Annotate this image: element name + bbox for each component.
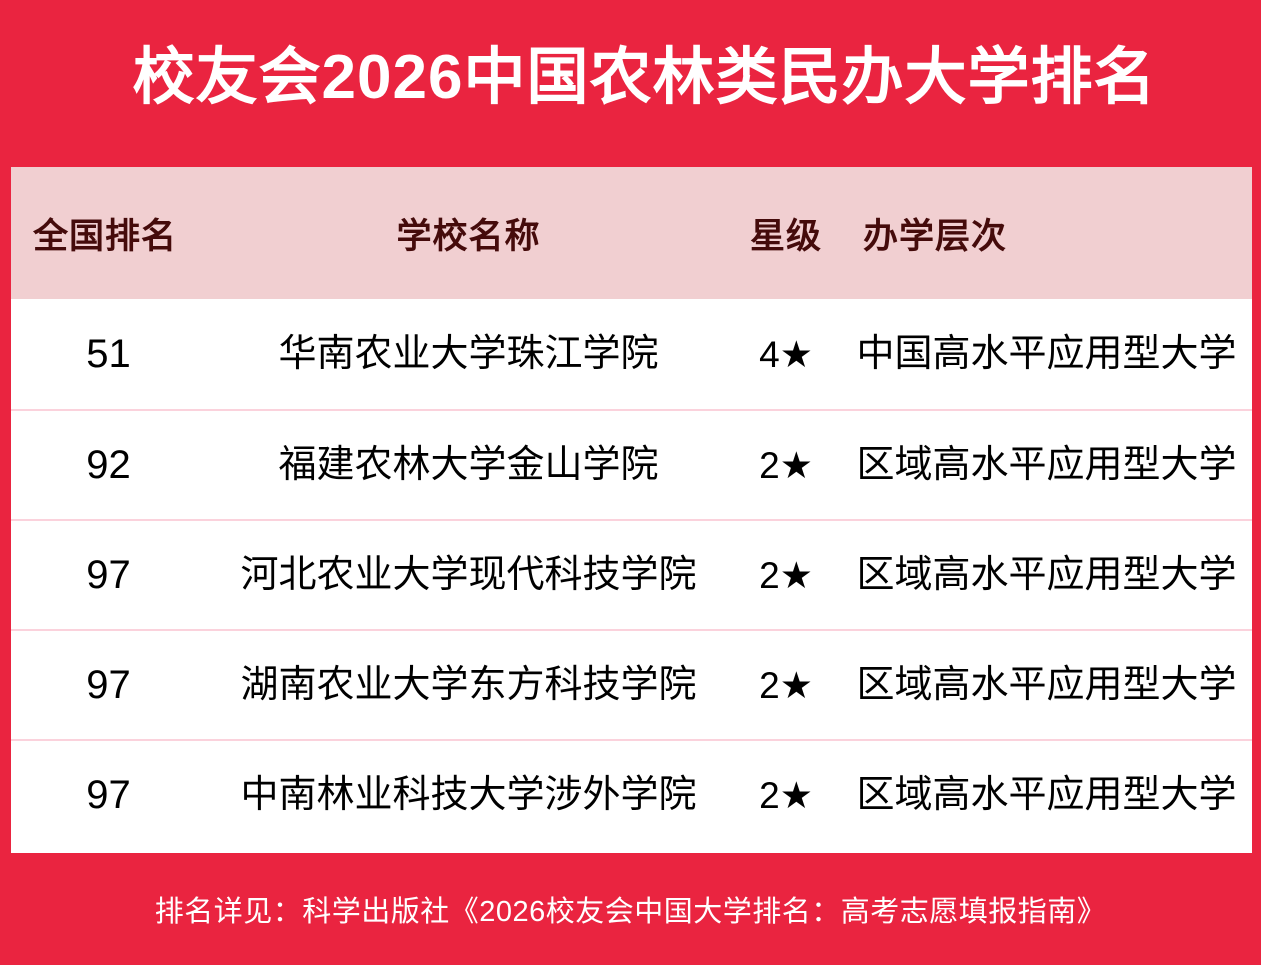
cell-rank: 97 — [11, 555, 206, 595]
school-name-value: 福建农林大学金山学院 — [278, 444, 658, 486]
cell-school-name: 河北农业大学现代科技学院 — [206, 556, 731, 594]
ranking-poster: 校友会2026中国农林类民办大学排名 全国排名 学校名称 星级 办学层次 51 … — [0, 0, 1261, 965]
cell-level: 区域高水平应用型大学 — [841, 446, 1252, 484]
rank-value: 92 — [86, 443, 131, 487]
table-row: 51 华南农业大学珠江学院 4★ 中国高水平应用型大学 — [11, 299, 1252, 409]
table-row: 97 中南林业科技大学涉外学院 2★ 区域高水平应用型大学 — [11, 739, 1252, 849]
table-row: 97 河北农业大学现代科技学院 2★ 区域高水平应用型大学 — [11, 519, 1252, 629]
cell-star-rating: 2★ — [731, 557, 841, 594]
cell-star-rating: 2★ — [731, 447, 841, 484]
school-name-value: 华南农业大学珠江学院 — [278, 333, 658, 375]
rank-value: 97 — [86, 773, 131, 817]
footer-note: 排名详见：科学出版社《2026校友会中国大学排名：高考志愿填报指南》 — [155, 888, 1107, 930]
school-name-value: 河北农业大学现代科技学院 — [240, 554, 696, 596]
level-value: 区域高水平应用型大学 — [856, 774, 1236, 816]
footer-band: 排名详见：科学出版社《2026校友会中国大学排名：高考志愿填报指南》 — [0, 853, 1261, 965]
cell-level: 中国高水平应用型大学 — [841, 335, 1252, 373]
cell-level: 区域高水平应用型大学 — [841, 776, 1252, 814]
table-header-row: 全国排名 学校名称 星级 办学层次 — [11, 167, 1252, 299]
table-row: 92 福建农林大学金山学院 2★ 区域高水平应用型大学 — [11, 409, 1252, 519]
cell-rank: 51 — [11, 334, 206, 374]
star-rating-value: 2★ — [759, 555, 813, 596]
level-value: 区域高水平应用型大学 — [856, 664, 1236, 706]
rank-value: 97 — [86, 663, 131, 707]
cell-level: 区域高水平应用型大学 — [841, 556, 1252, 594]
star-rating-value: 2★ — [759, 665, 813, 706]
school-name-value: 湖南农业大学东方科技学院 — [240, 664, 696, 706]
rank-value: 51 — [86, 332, 131, 376]
level-value: 区域高水平应用型大学 — [856, 554, 1236, 596]
star-rating-value: 4★ — [759, 334, 813, 375]
cell-rank: 97 — [11, 665, 206, 705]
cell-rank: 92 — [11, 445, 206, 485]
star-rating-value: 2★ — [759, 775, 813, 816]
title-band: 校友会2026中国农林类民办大学排名 — [0, 0, 1261, 155]
cell-school-name: 中南林业科技大学涉外学院 — [206, 776, 731, 814]
cell-rank: 97 — [11, 775, 206, 815]
page-title: 校友会2026中国农林类民办大学排名 — [133, 47, 1157, 109]
star-rating-value: 2★ — [759, 445, 813, 486]
cell-level: 区域高水平应用型大学 — [841, 666, 1252, 704]
rank-value: 97 — [86, 553, 131, 597]
column-header-school-name: 学校名称 — [206, 208, 731, 259]
cell-school-name: 湖南农业大学东方科技学院 — [206, 666, 731, 704]
cell-school-name: 福建农林大学金山学院 — [206, 446, 731, 484]
column-header-star-rating: 星级 — [731, 208, 841, 259]
cell-star-rating: 2★ — [731, 777, 841, 814]
cell-star-rating: 4★ — [731, 336, 841, 373]
level-value: 区域高水平应用型大学 — [856, 444, 1236, 486]
table-row: 97 湖南农业大学东方科技学院 2★ 区域高水平应用型大学 — [11, 629, 1252, 739]
school-name-value: 中南林业科技大学涉外学院 — [240, 774, 696, 816]
column-header-rank: 全国排名 — [11, 208, 206, 259]
cell-school-name: 华南农业大学珠江学院 — [206, 335, 731, 373]
ranking-table: 全国排名 学校名称 星级 办学层次 51 华南农业大学珠江学院 4★ 中国高水平… — [11, 167, 1252, 853]
column-header-level: 办学层次 — [841, 208, 1252, 259]
cell-star-rating: 2★ — [731, 667, 841, 704]
level-value: 中国高水平应用型大学 — [856, 333, 1236, 375]
